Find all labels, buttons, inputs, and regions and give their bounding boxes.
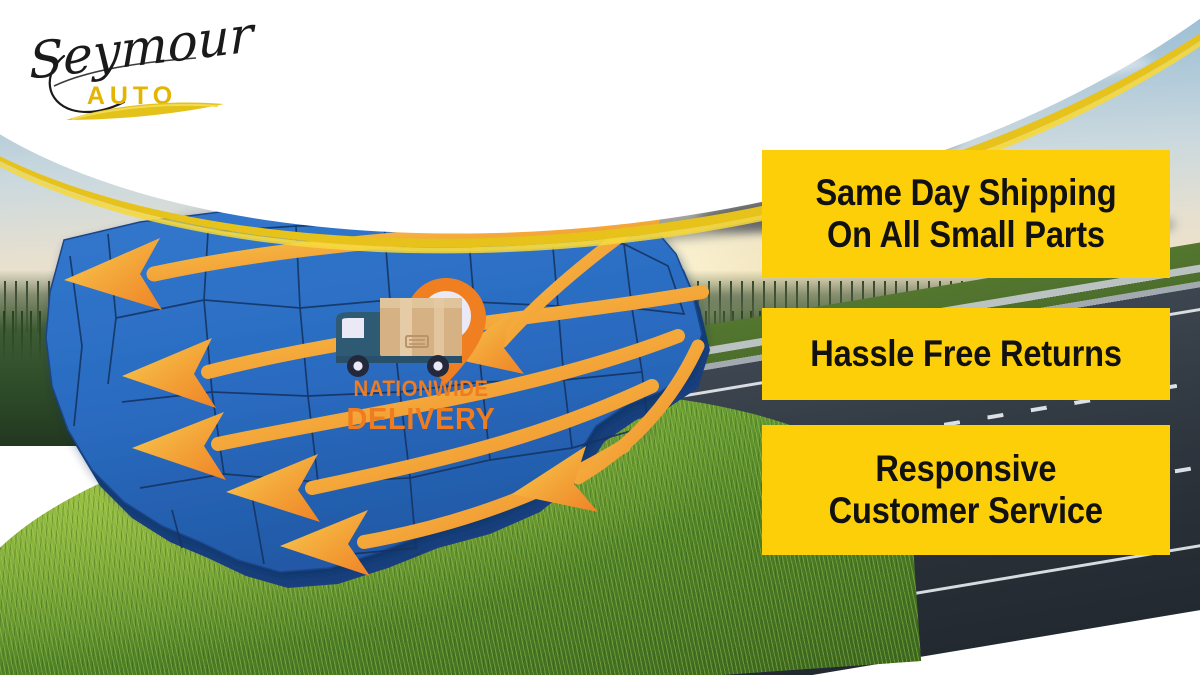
badge-line-nationwide: NATIONWIDE (333, 378, 510, 400)
badge-caption: NATIONWIDE DELIVERY (326, 378, 516, 434)
nationwide-delivery-badge: NATIONWIDE DELIVERY (330, 272, 510, 452)
callout-line: Responsive (875, 448, 1056, 490)
badge-line-delivery: DELIVERY (333, 403, 510, 434)
callout-responsive-customer-service[interactable]: Responsive Customer Service (762, 425, 1170, 555)
delivery-truck-icon (336, 298, 462, 377)
callout-same-day-shipping[interactable]: Same Day Shipping On All Small Parts (762, 150, 1170, 278)
callout-line: Same Day Shipping (816, 172, 1117, 214)
callout-line: On All Small Parts (827, 214, 1105, 256)
marketing-banner: NATIONWIDE DELIVERY Seymour AUTO Same Da… (0, 0, 1200, 675)
logo-svg: Seymour AUTO (28, 16, 238, 126)
logo-script-text: Seymour (29, 4, 257, 91)
callout-hassle-free-returns[interactable]: Hassle Free Returns (762, 308, 1170, 400)
callout-line: Customer Service (829, 490, 1103, 532)
seymour-auto-logo[interactable]: Seymour AUTO (28, 16, 238, 126)
callout-line: Hassle Free Returns (810, 333, 1122, 375)
